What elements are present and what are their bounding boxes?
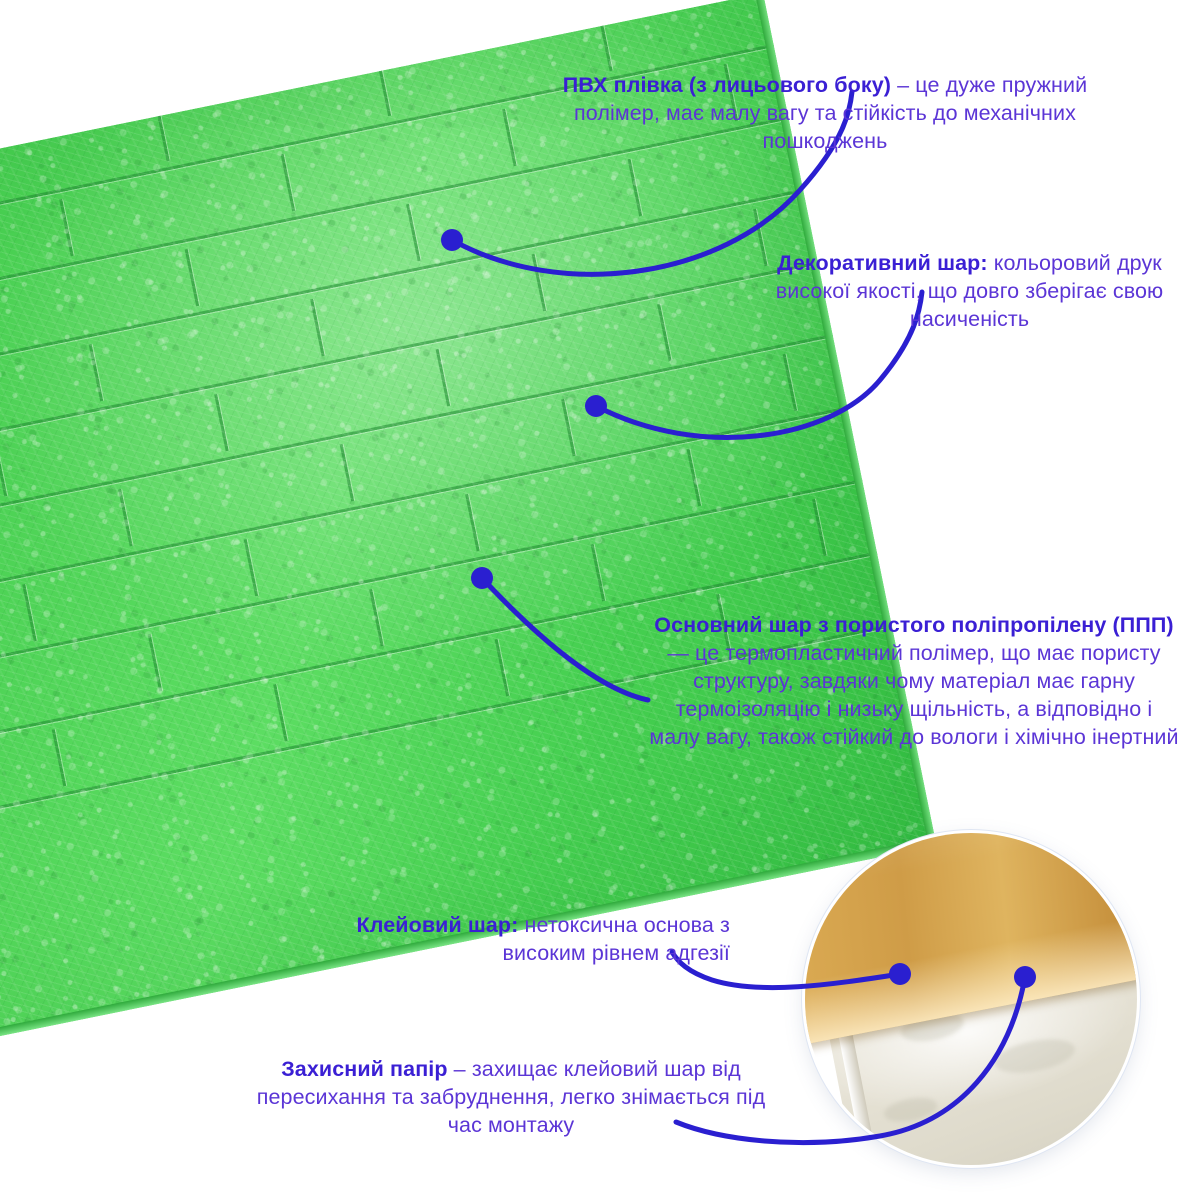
callout-title-decorative: Декоративний шар:: [777, 251, 987, 275]
infographic-canvas: ПВХ плівка (з лицьового боку) – це дуже …: [0, 0, 1200, 1200]
callout-text-adhesive: Клейовий шар: нетоксична основа з високи…: [290, 912, 730, 968]
brick-joint: [820, 0, 835, 26]
brick-joint: [908, 404, 923, 461]
brick-panel-image: [0, 0, 937, 1047]
callout-body-ppp: це термопластичний полімер, що має порис…: [649, 641, 1178, 749]
cross-section-inset: [805, 833, 1137, 1165]
callout-text-ppp: Основний шар з пористого поліпропілену (…: [648, 612, 1180, 752]
callout-title-adhesive: Клейовий шар:: [357, 913, 519, 937]
callout-dash-ppp: —: [667, 641, 695, 665]
brick-panel-surface: [0, 0, 937, 1047]
cross-section-photo: [805, 833, 1137, 1165]
callout-text-protective-paper: Захисний папір – захищає клейовий шар ві…: [246, 1056, 776, 1140]
callout-title-ppp: Основний шар з пористого поліпропілену (…: [654, 613, 1173, 637]
callout-text-pvc: ПВХ плівка (з лицьового боку) – це дуже …: [560, 72, 1090, 156]
callout-title-pvc: ПВХ плівка (з лицьового боку): [563, 73, 891, 97]
callout-text-decorative: Декоративний шар: кольоровий друк високо…: [762, 250, 1177, 334]
callout-body-adhesive: нетоксична основа з високим рівнем адгез…: [503, 913, 730, 965]
callout-dash-protective-paper: –: [448, 1057, 472, 1081]
callout-dash-pvc: –: [891, 73, 915, 97]
callout-title-protective-paper: Захисний папір: [281, 1057, 447, 1081]
